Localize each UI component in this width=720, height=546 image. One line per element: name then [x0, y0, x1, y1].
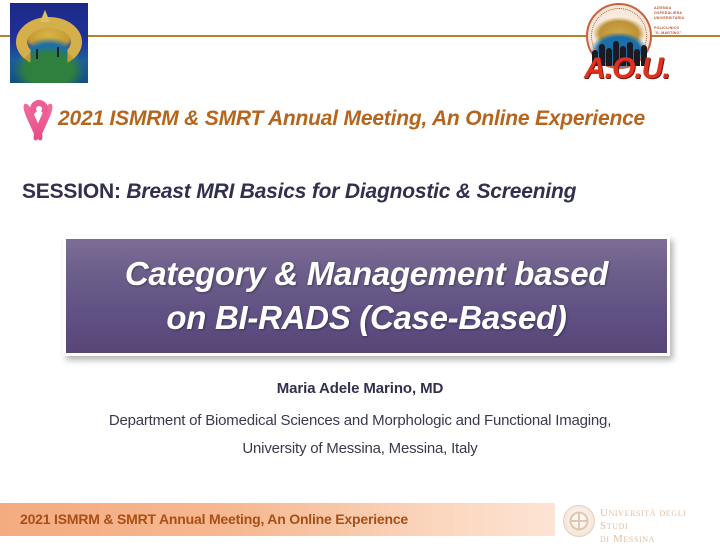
session-line: SESSION: Breast MRI Basics for Diagnosti… — [22, 180, 576, 204]
aou-caption-line-3: UNIVERSITARIA — [654, 16, 710, 21]
harbor-spire-shape — [40, 10, 50, 22]
messina-harbor-painting-image — [10, 3, 88, 83]
university-seal-icon — [563, 505, 595, 537]
aou-logo-caption: AZIENDA OSPEDALIERA UNIVERSITARIA POLICL… — [654, 6, 710, 36]
author-affiliation-line-2: University of Messina, Messina, Italy — [0, 435, 720, 463]
author-affiliation-line-1: Department of Biomedical Sciences and Mo… — [0, 407, 720, 435]
author-name: Maria Adele Marino, MD — [0, 380, 720, 397]
harbor-boat-shape — [36, 49, 38, 59]
university-name: Università degli Studi di Messina — [600, 507, 718, 546]
header-band: A.O.U. AZIENDA OSPEDALIERA UNIVERSITARIA… — [0, 0, 720, 92]
conference-title: 2021 ISMRM & SMRT Annual Meeting, An Onl… — [58, 107, 645, 131]
ribbon-loop — [30, 100, 48, 118]
aou-acronym-text: A.O.U. — [584, 52, 670, 86]
footer-conference-text: 2021 ISMRM & SMRT Annual Meeting, An Onl… — [20, 511, 408, 527]
session-label: SESSION: — [22, 180, 121, 203]
aou-logo: A.O.U. AZIENDA OSPEDALIERA UNIVERSITARIA… — [584, 2, 712, 84]
rule-gap — [8, 33, 90, 39]
author-block: Maria Adele Marino, MD Department of Bio… — [0, 380, 720, 463]
session-name: Breast MRI Basics for Diagnostic & Scree… — [126, 180, 576, 203]
university-of-messina-logo: Università degli Studi di Messina — [555, 499, 720, 540]
presentation-title-box: Category & Management based on BI-RADS (… — [63, 236, 670, 356]
seal-inner-ring — [570, 512, 589, 531]
university-name-line-1: Università degli Studi — [600, 507, 718, 533]
pink-ribbon-icon — [20, 100, 60, 146]
presentation-title-line-1: Category & Management based — [125, 255, 608, 293]
harbor-boat-shape — [57, 47, 59, 57]
conference-title-row: 2021 ISMRM & SMRT Annual Meeting, An Onl… — [0, 100, 720, 146]
aou-caption-line-5: "G. MARTINO" — [654, 31, 710, 36]
harbor-arc-shape — [16, 17, 82, 67]
presentation-title-line-2: on BI-RADS (Case-Based) — [166, 299, 566, 337]
